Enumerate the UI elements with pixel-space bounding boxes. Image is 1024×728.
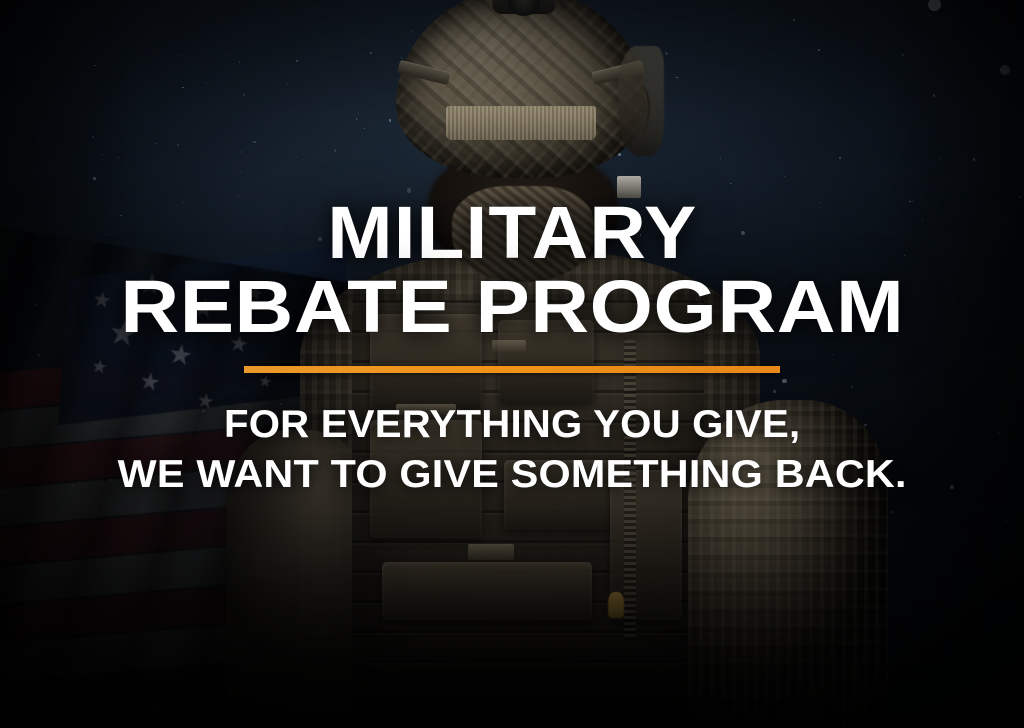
subtitle-line-2: WE WANT TO GIVE SOMETHING BACK.	[117, 451, 906, 499]
headline-line-1: MILITARY	[134, 198, 890, 268]
military-rebate-banner: MILITARY REBATE PROGRAM FOR EVERYTHING Y…	[0, 0, 1024, 728]
orange-divider	[244, 366, 780, 373]
banner-content: MILITARY REBATE PROGRAM FOR EVERYTHING Y…	[0, 0, 1024, 728]
banner-subtitle: FOR EVERYTHING YOU GIVE, WE WANT TO GIVE…	[140, 401, 884, 498]
headline-line-2: REBATE PROGRAM	[120, 272, 904, 342]
page-title: MILITARY REBATE PROGRAM	[156, 198, 869, 341]
subtitle-line-1: FOR EVERYTHING YOU GIVE,	[129, 401, 896, 449]
